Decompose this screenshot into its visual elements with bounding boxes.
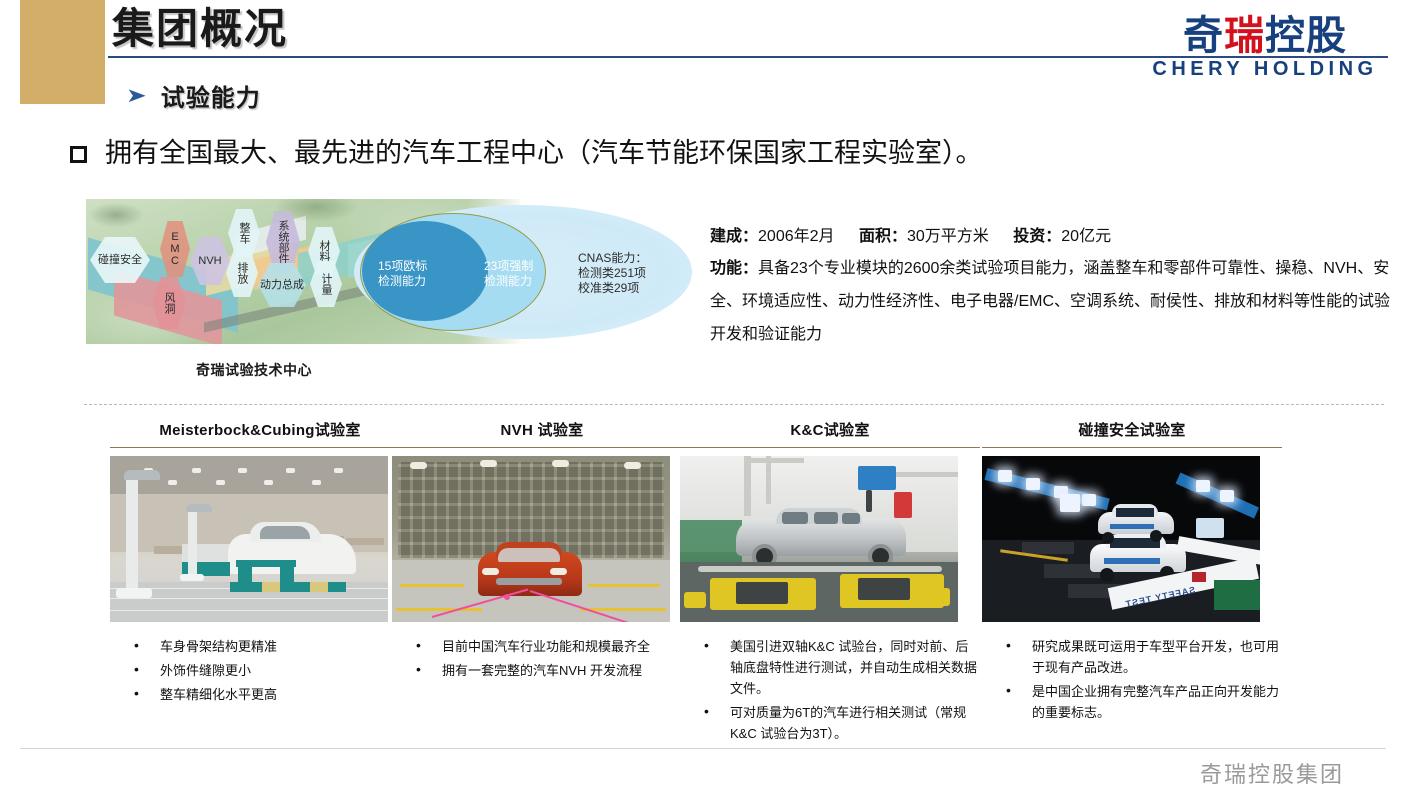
list-item: 美国引进双轴K&C 试验台，同时对前、后轴底盘特性进行测试，并自动生成相关数据文… bbox=[700, 636, 980, 699]
card-title-rule bbox=[392, 447, 692, 448]
list-item: 可对质量为6T的汽车进行相关测试（常规K&C 试验台为3T）。 bbox=[700, 702, 980, 744]
investment-value: 20亿元 bbox=[1061, 228, 1111, 245]
card-title-rule bbox=[110, 447, 410, 448]
card-title-rule bbox=[982, 447, 1282, 448]
diagram-caption: 奇瑞试验技术中心 bbox=[196, 360, 312, 380]
facility-function-row: 功能：具备23个专业模块的2600余类试验项目能力，涵盖整车和零部件可靠性、操稳… bbox=[710, 252, 1400, 351]
logo-chinese-text: 奇瑞控股 bbox=[1134, 14, 1396, 58]
function-label: 功能： bbox=[710, 260, 758, 277]
logo-cn-part2: 控股 bbox=[1265, 14, 1347, 58]
investment-label: 投资： bbox=[1013, 228, 1061, 245]
meisterbock-cubing-lab-photo bbox=[110, 456, 388, 622]
chery-holding-logo: 奇瑞控股 CHERY HOLDING bbox=[1134, 14, 1396, 80]
card-title: 碰撞安全试验室 bbox=[982, 420, 1282, 442]
nvh-lab-photo bbox=[392, 456, 670, 622]
built-label: 建成： bbox=[710, 228, 758, 245]
chevron-right-icon: ➤ bbox=[126, 86, 147, 106]
footer-brand: 奇瑞控股集团 bbox=[1200, 757, 1344, 789]
ellipse-label-mandatory: 23项强制 检测能力 bbox=[484, 259, 533, 289]
section-subtitle: 试验能力 bbox=[161, 78, 261, 113]
card-kc: K&C试验室 bbox=[680, 420, 980, 747]
page-title: 集团概况 bbox=[112, 4, 288, 54]
card-crash-safety: 碰撞安全试验室 bbox=[982, 420, 1282, 726]
logo-cn-part1: 奇 bbox=[1183, 14, 1224, 58]
card-bullet-list: 美国引进双轴K&C 试验台，同时对前、后轴底盘特性进行测试，并自动生成相关数据文… bbox=[680, 636, 980, 744]
statement-row: 拥有全国最大、最先进的汽车工程中心（汽车节能环保国家工程实验室）。 bbox=[70, 134, 983, 172]
card-title: NVH 试验室 bbox=[392, 420, 692, 442]
statement-text: 拥有全国最大、最先进的汽车工程中心（汽车节能环保国家工程实验室）。 bbox=[105, 134, 983, 172]
card-bullet-list: 车身骨架结构更精准 外饰件缝隙更小 整车精细化水平更高 bbox=[110, 636, 410, 705]
slide-root: 集团概况 ➤ 试验能力 奇瑞控股 CHERY HOLDING 拥有全国最大、最先… bbox=[0, 0, 1406, 792]
facility-info-block: 建成：2006年2月 面积：30万平方米 投资：20亿元 功能：具备23个专业模… bbox=[710, 222, 1400, 351]
list-item: 研究成果既可运用于车型平台开发，也可用于现有产品改进。 bbox=[1002, 636, 1282, 678]
gold-accent-bar bbox=[20, 0, 105, 104]
section-divider bbox=[84, 404, 1384, 405]
card-bullet-list: 目前中国汽车行业功能和规模最齐全 拥有一套完整的汽车NVH 开发流程 bbox=[392, 636, 692, 681]
list-item: 是中国企业拥有完整汽车产品正向开发能力的重要标志。 bbox=[1002, 681, 1282, 723]
facility-stats-row: 建成：2006年2月 面积：30万平方米 投资：20亿元 bbox=[710, 222, 1400, 252]
ellipse-label-euro: 15项欧标 检测能力 bbox=[378, 259, 427, 289]
built-value: 2006年2月 bbox=[758, 228, 835, 245]
list-item: 车身骨架结构更精准 bbox=[130, 636, 410, 657]
ellipse-label-cnas: CNAS能力： 检测类251项 校准类29项 bbox=[578, 251, 647, 296]
logo-english-text: CHERY HOLDING bbox=[1134, 58, 1396, 80]
card-title-rule bbox=[680, 447, 980, 448]
section-subtitle-group: ➤ 试验能力 bbox=[128, 78, 261, 113]
function-text: 具备23个专业模块的2600余类试验项目能力，涵盖整车和零部件可靠性、操稳、NV… bbox=[710, 260, 1390, 343]
card-nvh: NVH 试验室 目前中国汽车行业功能和规模最齐全 拥有一套完整的汽车NVH 开发… bbox=[392, 420, 692, 684]
footer-divider bbox=[20, 748, 1386, 749]
card-bullet-list: 研究成果既可运用于车型平台开发，也可用于现有产品改进。 是中国企业拥有完整汽车产… bbox=[982, 636, 1282, 723]
area-value: 30万平方米 bbox=[907, 228, 989, 245]
test-center-diagram: 15项欧标 检测能力 23项强制 检测能力 CNAS能力： 检测类251项 校准… bbox=[86, 199, 704, 344]
list-item: 拥有一套完整的汽车NVH 开发流程 bbox=[412, 660, 692, 681]
card-title: K&C试验室 bbox=[680, 420, 980, 442]
card-title: Meisterbock&Cubing试验室 bbox=[110, 420, 410, 442]
square-bullet-icon bbox=[70, 146, 87, 163]
list-item: 整车精细化水平更高 bbox=[130, 684, 410, 705]
crash-safety-lab-photo: SAFETY TEST bbox=[982, 456, 1260, 622]
area-label: 面积： bbox=[859, 228, 907, 245]
list-item: 目前中国汽车行业功能和规模最齐全 bbox=[412, 636, 692, 657]
card-meisterbock-cubing: Meisterbock&Cubing试验室 bbox=[110, 420, 410, 708]
logo-cn-red: 瑞 bbox=[1224, 14, 1265, 58]
kc-lab-photo bbox=[680, 456, 958, 622]
list-item: 外饰件缝隙更小 bbox=[130, 660, 410, 681]
